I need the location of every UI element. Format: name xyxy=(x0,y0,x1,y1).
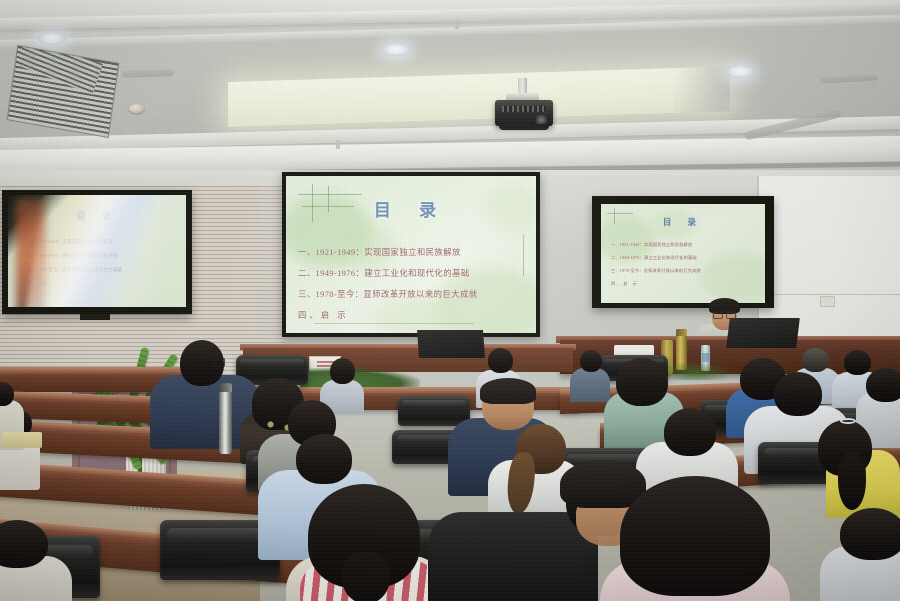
left-display-monitor[interactable]: 目 录 一、1921-1949：实现国家独立和民族解放 二、1949-1976：… xyxy=(2,190,192,314)
laptop[interactable] xyxy=(417,330,485,358)
right-display-monitor[interactable]: 目 录 一、1921-1949：实现国家独立和民族解放 二、1949-1976：… xyxy=(592,196,774,308)
slide-list-item: 三、1978-至今：显师改革开放以来的巨大成就 xyxy=(298,288,528,300)
slide-content-list: 一、1921-1949：实现国家独立和民族解放 二、1949-1976：建立工业… xyxy=(298,246,528,330)
slide-list-item: 二、1949-1976：建立工业化和现代化的基础 xyxy=(298,267,528,279)
left-display-screen: 目 录 一、1921-1949：实现国家独立和民族解放 二、1949-1976：… xyxy=(8,195,186,307)
wall-switch-plate[interactable] xyxy=(820,296,835,307)
slide-watercolor-blob xyxy=(701,252,765,302)
slide-title: 目 录 xyxy=(286,196,536,221)
downlight-icon xyxy=(382,44,410,56)
hair-tie xyxy=(840,418,856,424)
desk-plant xyxy=(660,362,730,380)
right-display-list: 一、1921-1949：实现国家独立和民族解放 二、1949-1976：建立工业… xyxy=(611,242,701,294)
list-item: 三、1978-至今：显师改革开放以来的巨大成就 xyxy=(611,268,701,274)
slide-list-item: 四、启 示 xyxy=(298,309,528,321)
ceiling-projector xyxy=(495,100,553,126)
right-display-screen: 目 录 一、1921-1949：实现国家独立和民族解放 二、1949-1976：… xyxy=(601,204,765,303)
sprinkler-icon xyxy=(455,20,459,29)
sprinkler-icon xyxy=(336,140,340,149)
screen-glare xyxy=(22,195,167,307)
chair[interactable] xyxy=(398,396,470,426)
slide-list-item: 一、1921-1949：实现国家独立和民族解放 xyxy=(298,246,528,258)
list-item: 一、1921-1949：实现国家独立和民族解放 xyxy=(611,242,701,248)
thermos-flask xyxy=(219,390,232,454)
list-item: 二、1949-1976：建立工业化和现代化的基础 xyxy=(611,255,701,261)
laptop[interactable] xyxy=(726,318,800,348)
list-item: 四、启 示 xyxy=(611,281,701,287)
downlight-icon xyxy=(726,66,754,78)
conference-room-photo: 目 录 一、1921-1949：实现国家独立和民族解放 二、1949-1976：… xyxy=(0,0,900,601)
smoke-detector-icon xyxy=(129,104,144,113)
downlight-icon xyxy=(38,33,66,45)
projection-screen-surface: 目 录 一、1921-1949：实现国家独立和民族解放 二、1949-1976：… xyxy=(286,176,536,333)
glasses-icon xyxy=(713,311,736,317)
left-display-stand xyxy=(80,314,110,320)
right-display-title: 目 录 xyxy=(601,216,765,228)
paper-stack xyxy=(2,432,42,448)
glasses-icon xyxy=(214,358,225,367)
projection-screen: 目 录 一、1921-1949：实现国家独立和民族解放 二、1949-1976：… xyxy=(282,172,540,337)
projector-foot xyxy=(499,124,549,130)
